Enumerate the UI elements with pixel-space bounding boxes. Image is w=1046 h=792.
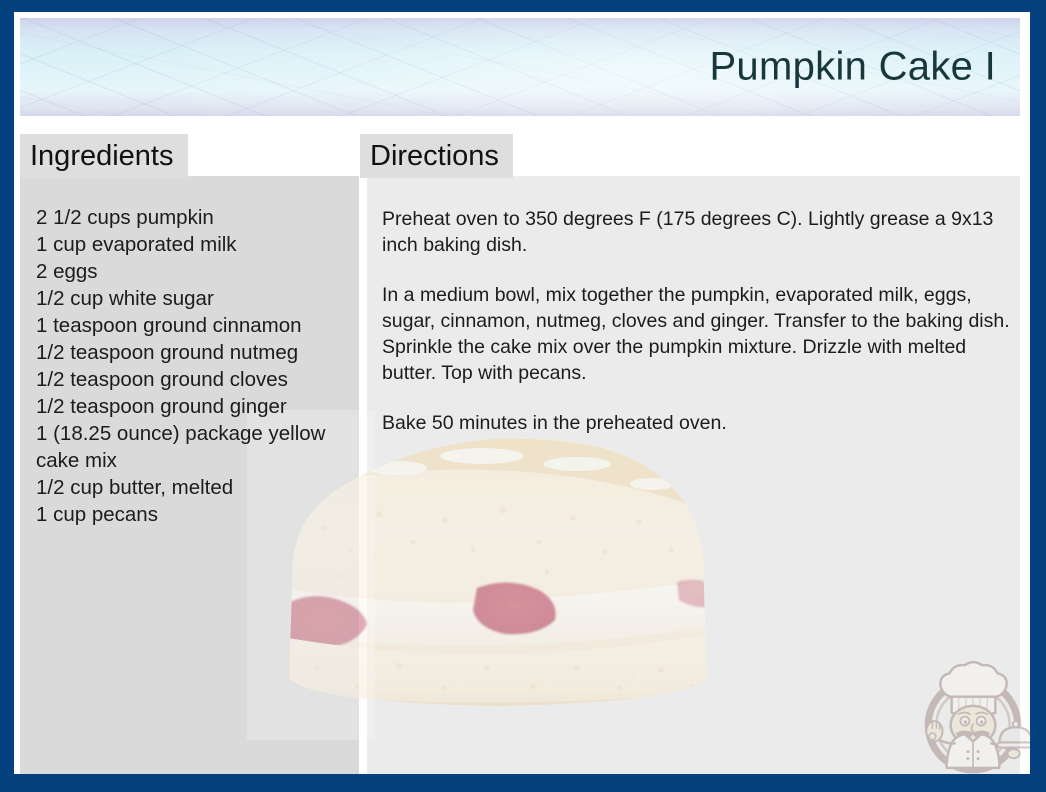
list-item: 2 eggs [36, 258, 354, 285]
recipe-card: Pumpkin Cake I Ingredients Directions [0, 0, 1046, 792]
directions-paragraph: In a medium bowl, mix together the pumpk… [382, 282, 1014, 386]
list-item: 1 cup evaporated milk [36, 231, 354, 258]
ingredients-list: 2 1/2 cups pumpkin 1 cup evaporated milk… [36, 204, 354, 528]
list-item: 1/2 cup butter, melted [36, 474, 354, 501]
list-item: 1 teaspoon ground cinnamon [36, 312, 354, 339]
list-item: 1/2 cup white sugar [36, 285, 354, 312]
recipe-banner: Pumpkin Cake I [20, 18, 1020, 116]
directions-paragraph: Bake 50 minutes in the preheated oven. [382, 410, 1014, 436]
list-item: 1 cup pecans [36, 501, 354, 528]
list-item: 1 (18.25 ounce) package yellow cake mix [36, 420, 354, 474]
section-heading-directions: Directions [360, 134, 513, 178]
list-item: 1/2 teaspoon ground ginger [36, 393, 354, 420]
directions-text: Preheat oven to 350 degrees F (175 degre… [382, 206, 1014, 436]
list-item: 1/2 teaspoon ground nutmeg [36, 339, 354, 366]
list-item: 2 1/2 cups pumpkin [36, 204, 354, 231]
directions-paragraph: Preheat oven to 350 degrees F (175 degre… [382, 206, 1014, 258]
list-item: 1/2 teaspoon ground cloves [36, 366, 354, 393]
page-title: Pumpkin Cake I [709, 45, 996, 90]
section-heading-ingredients: Ingredients [20, 134, 188, 178]
